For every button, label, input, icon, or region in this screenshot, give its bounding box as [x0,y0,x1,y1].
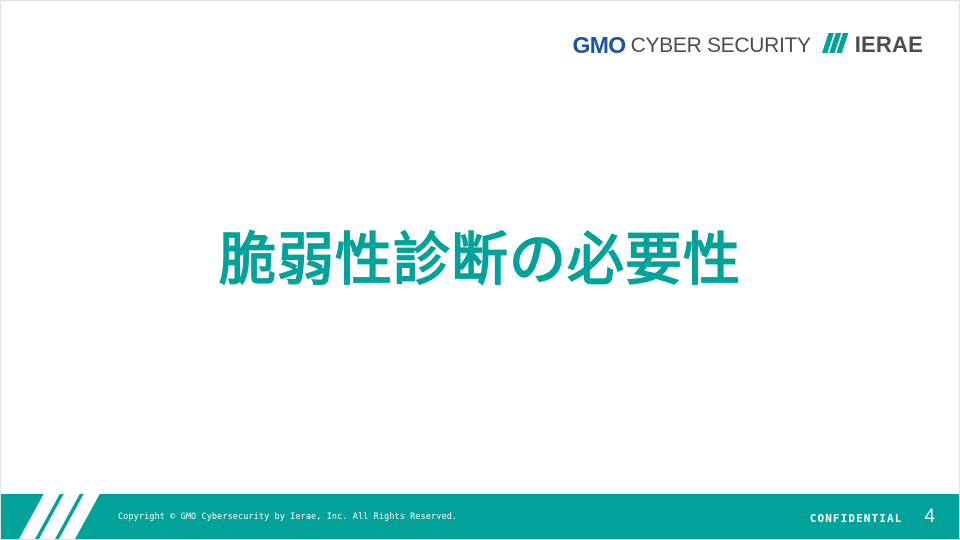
footer-bar: Copyright © GMO Cybersecurity by Ierae, … [1,494,960,539]
page-number: 4 [924,506,935,528]
page-title: 脆弱性診断の必要性 [219,229,741,292]
cyber-security-wordmark: CYBER SECURITY [631,35,811,56]
confidential-label: CONFIDENTIAL [810,512,903,525]
brand-logo: GMO CYBER SECURITY IERAE [572,32,923,58]
triple-slash-icon [822,33,848,58]
copyright-text: Copyright © GMO Cybersecurity by Ierae, … [118,512,457,522]
slide: GMO CYBER SECURITY IERAE 脆弱性診断の必要性 [0,0,960,540]
gmo-wordmark: GMO [572,34,625,57]
footer-right-group: CONFIDENTIAL 4 [810,506,935,528]
title-container: 脆弱性診断の必要性 [1,229,959,292]
triple-slash-icon [19,488,111,539]
ierae-wordmark: IERAE [855,34,923,56]
